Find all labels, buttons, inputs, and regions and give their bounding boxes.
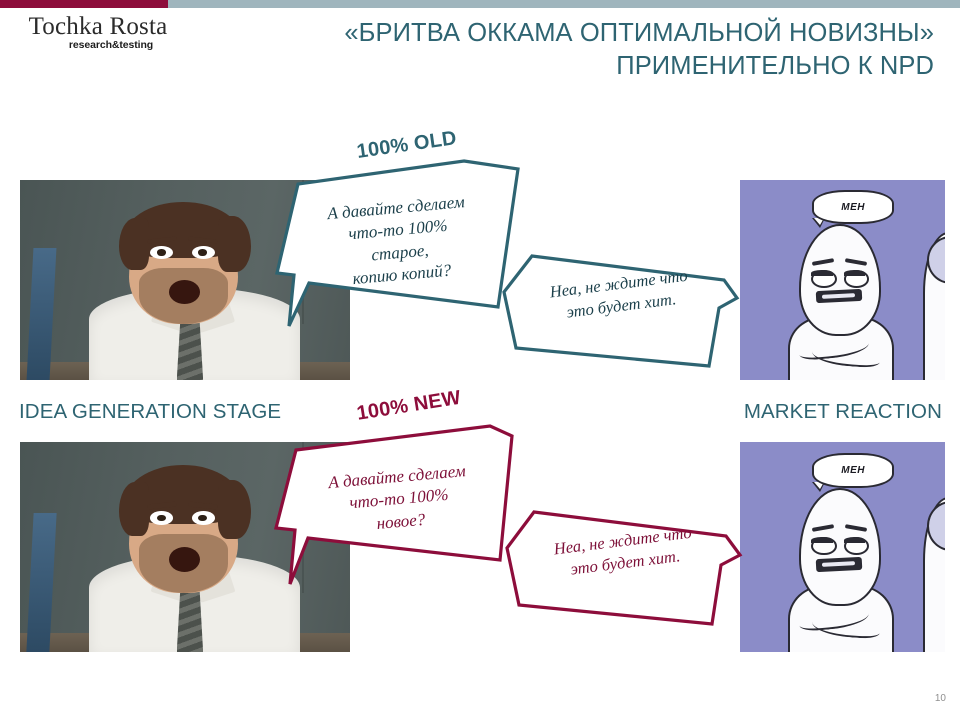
photo-open-mouth [169, 547, 200, 572]
speech-bubble-question-new: А давайте сделаем что-то 100% новое? [272, 418, 524, 590]
photo-pupil-right [198, 515, 207, 522]
cartoon-meh-old: МЕН [740, 180, 958, 380]
cartoon-eyelid-right [844, 270, 866, 276]
slide-canvas: Tochka Rosta research&testing «БРИТВА ОК… [0, 0, 960, 720]
cartoon-eyelid-left [811, 537, 833, 544]
cartoon-speech-bubble: МЕН [812, 190, 894, 224]
page-title-line2: ПРИМЕНИТЕЛЬНО К NPD [234, 50, 934, 83]
page-number: 10 [935, 693, 946, 704]
speech-bubble-question-old: А давайте сделаем что-то 100% старое, ко… [272, 155, 524, 330]
page-title-line1: «БРИТВА ОККАМА ОПТИМАЛЬНОЙ НОВИЗНЫ» [344, 19, 934, 47]
cartoon-eyelid-left [811, 270, 833, 276]
cartoon-speech-text: МЕН [841, 202, 865, 213]
speech-bubble-answer-new: Неа, не ждите что это будет хит. [500, 508, 748, 628]
top-accent-bar-maroon [0, 0, 168, 8]
cartoon-right-edge [945, 180, 958, 380]
label-idea-generation-stage: IDEA GENERATION STAGE [19, 400, 281, 424]
cartoon-right-edge [945, 442, 958, 652]
cartoon-speech-bubble: МЕН [812, 453, 894, 489]
speech-bubble-answer-old: Неа, не ждите что это будет хит. [496, 252, 744, 370]
brand-logo: Tochka Rosta research&testing [18, 14, 178, 51]
photo-open-mouth [169, 280, 200, 304]
logo-name: Tochka Rosta [18, 14, 178, 40]
cartoon-eyelid-right [844, 537, 866, 544]
cartoon-speech-text: МЕН [841, 465, 865, 476]
speech-bubble-question-old-text: А давайте сделаем что-то 100% старое, ко… [292, 188, 505, 295]
top-accent-bar-grey [168, 0, 960, 8]
logo-tagline: research&testing [44, 39, 178, 51]
cartoon-grimace-mouth [816, 289, 862, 303]
photo-hair-left [119, 218, 149, 270]
page-title: «БРИТВА ОККАМА ОПТИМАЛЬНОЙ НОВИЗНЫ» ПРИМ… [234, 17, 934, 82]
cartoon-meh-new: МЕН [740, 442, 958, 652]
photo-pupil-left [157, 249, 166, 255]
label-market-reaction: MARKET REACTION [744, 400, 942, 424]
cartoon-grimace-mouth [816, 556, 862, 571]
photo-pupil-right [198, 249, 207, 255]
photo-hair-left [119, 482, 149, 537]
